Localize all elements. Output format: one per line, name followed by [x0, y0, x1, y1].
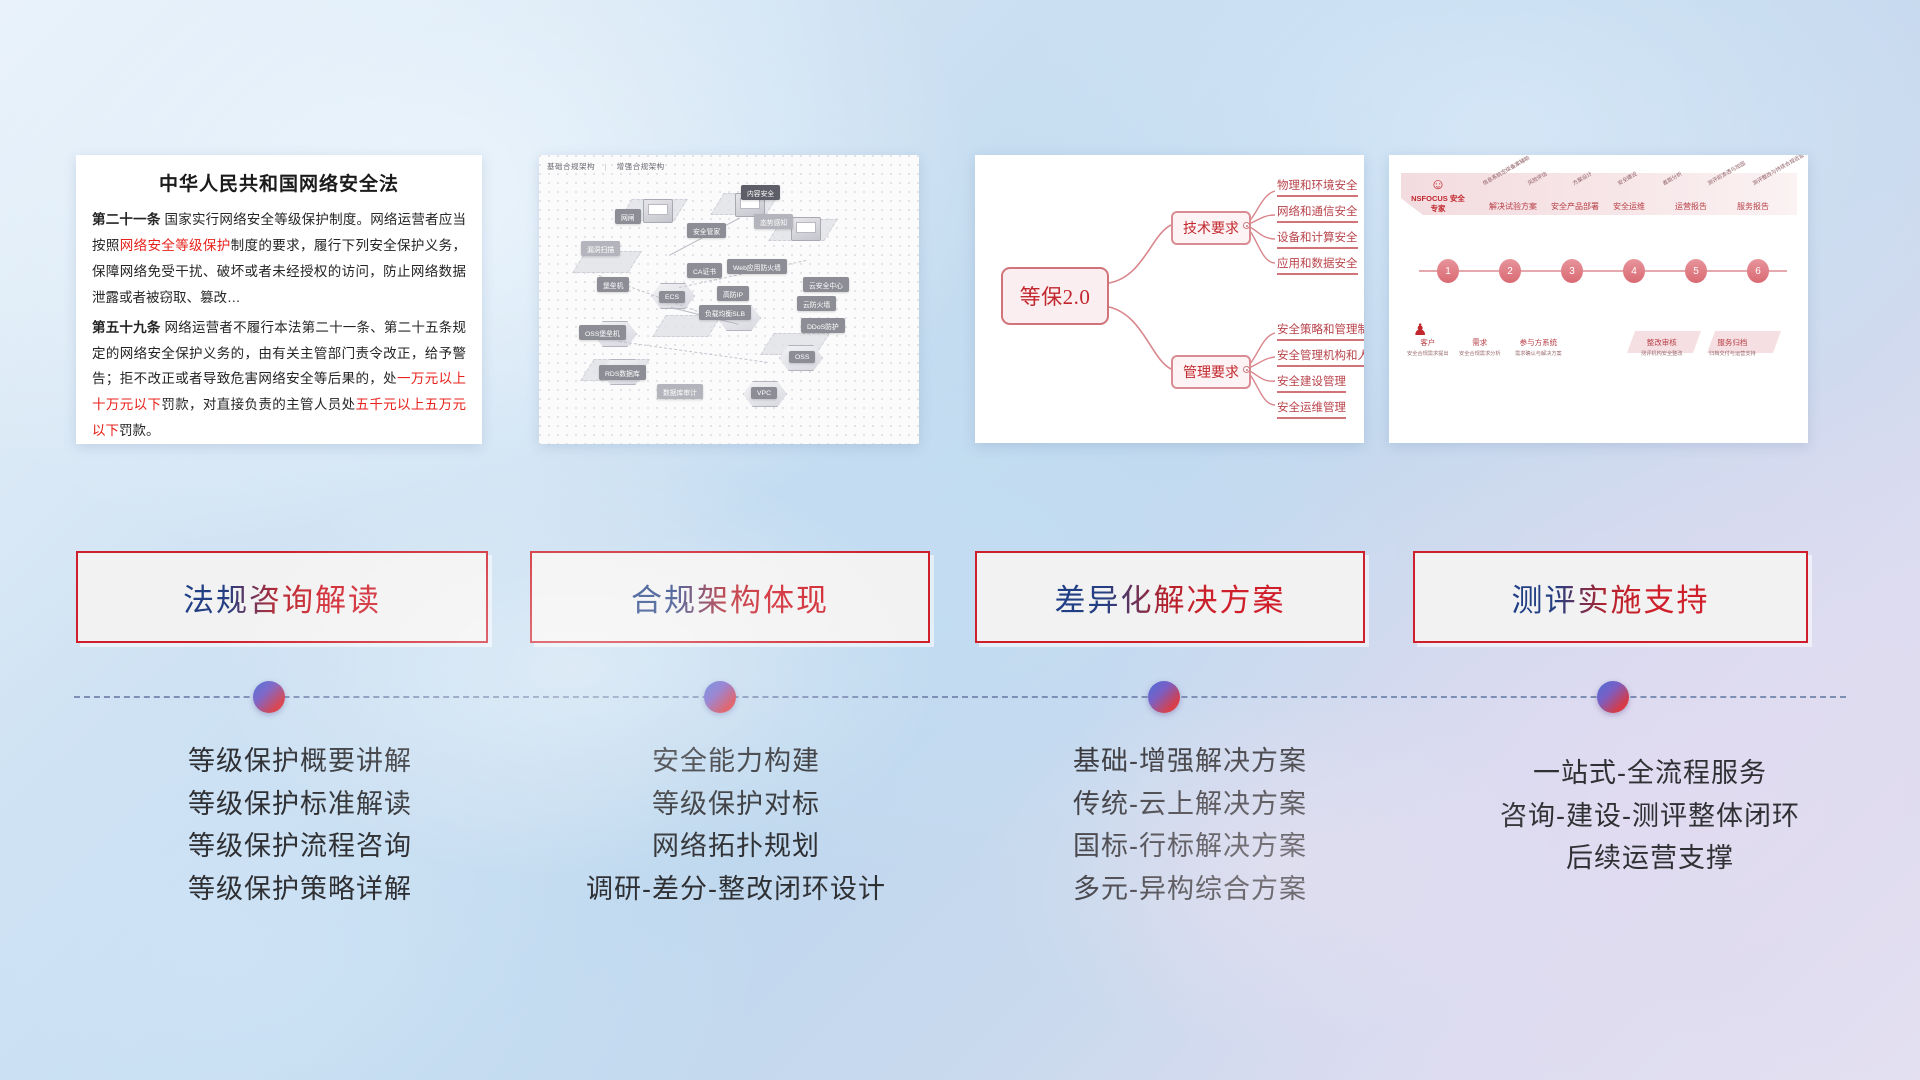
poster-canvas: 中华人民共和国网络安全法 第二十一条 国家实行网络安全等级保护制度。网络运营者应…	[0, 0, 1920, 1080]
nsfocus-service-label: 安全产品部署	[1551, 201, 1599, 212]
card-nsfocus-timeline[interactable]: ☺ NSFOCUS 安全专家 信息系统定级备案辅助风险评估方案设计安全建设差距分…	[1389, 155, 1808, 443]
nsfocus-logo: ☺ NSFOCUS 安全专家	[1411, 177, 1465, 214]
arch-header-right: 增强合规架构	[617, 162, 665, 171]
arch-component-chip: CA证书	[687, 263, 722, 278]
detail-column-1: 等级保护概要讲解等级保护标准解读等级保护流程咨询等级保护策略详解	[60, 740, 540, 911]
law-title: 中华人民共和国网络安全法	[92, 169, 466, 196]
mindmap-leaf: 应用和数据安全	[1277, 255, 1358, 277]
mindmap-branch-technical[interactable]: 技术要求	[1171, 211, 1251, 245]
nsfocus-block-subtitle: 测评机构安全整改	[1641, 350, 1683, 357]
mindmap-leaf-label: 物理和环境安全	[1277, 180, 1358, 192]
mindmap-leaf: 安全运维管理	[1277, 399, 1346, 421]
mindmap-leaf-label: 安全运维管理	[1277, 402, 1346, 414]
architecture-canvas: 基础合规架构 | 增强合规架构	[539, 155, 919, 444]
arch-component-chip: 网闸	[615, 209, 641, 224]
pill-label: 测评实施支持	[1512, 575, 1710, 620]
arch-component-chip: DDoS防护	[801, 318, 845, 333]
nsfocus-service-label: 安全运维	[1613, 201, 1645, 212]
nsfocus-block-title: 参与方系统	[1520, 338, 1558, 347]
timeline-node-1[interactable]	[253, 681, 285, 713]
mindmap-connector-dot	[1243, 222, 1250, 229]
law-text: 罚款，对直接负责的主管人员处	[161, 397, 355, 412]
mindmap-leaf: 安全管理机构和人员	[1277, 347, 1364, 369]
mindmap-leaf: 设备和计算安全	[1277, 229, 1358, 251]
arch-component-chip: 堡垒机	[597, 277, 629, 292]
detail-column-4: 一站式-全流程服务咨询-建设-测评整体闭环后续运营支撑	[1430, 740, 1870, 880]
nsfocus-block-title: 客户	[1420, 338, 1435, 347]
nsfocus-brand-line1: NSFOCUS	[1411, 194, 1448, 203]
detail-item: 一站式-全流程服务	[1430, 752, 1870, 795]
law-article-number: 第五十九条	[92, 320, 161, 335]
law-text: 罚款。	[119, 423, 160, 438]
arch-component-chip: 云防火墙	[797, 296, 836, 311]
mindmap-leaf-label: 安全策略和管理制度	[1277, 324, 1364, 336]
arch-component-chip: OSS	[789, 351, 815, 363]
detail-item: 安全能力构建	[516, 740, 956, 783]
law-article-number: 第二十一条	[92, 212, 161, 227]
nsfocus-bottom-block: 客户安全合规需求提出	[1407, 337, 1449, 357]
arch-component-chip: Web应用防火墙	[727, 259, 787, 274]
detail-item: 后续运营支撑	[1430, 837, 1870, 880]
pill-button-3[interactable]: 差异化解决方案	[975, 551, 1365, 643]
timeline-node-3[interactable]	[1148, 681, 1180, 713]
detail-item: 咨询-建设-测评整体闭环	[1430, 795, 1870, 838]
detail-item: 等级保护对标	[516, 783, 956, 826]
mindmap-canvas: 等保2.0 技术要求 管理要求 物理和环境安全 网络和通信安全 设备和计算安全 …	[975, 155, 1364, 443]
mindmap-leaf-label: 网络和通信安全	[1277, 206, 1358, 218]
arch-server-node	[643, 199, 673, 223]
law-paragraphs: 第二十一条 国家实行网络安全等级保护制度。网络运营者应当按照网络安全等级保护制度…	[92, 207, 466, 444]
nsfocus-block-subtitle: 需求确认与解决方案	[1515, 350, 1562, 357]
nsfocus-service-label: 解决试验方案	[1489, 201, 1537, 212]
arch-component-chip: 高防IP	[717, 286, 749, 301]
timeline-node-2[interactable]	[704, 681, 736, 713]
arch-component-chip: 负载均衡SLB	[699, 305, 751, 320]
nsfocus-service-label: 运营报告	[1675, 201, 1707, 212]
nsfocus-block-subtitle: 安全合规需求分析	[1459, 350, 1501, 357]
law-paragraph: 第二十一条 国家实行网络安全等级保护制度。网络运营者应当按照网络安全等级保护制度…	[92, 207, 466, 311]
arch-component-chip: 态势感知	[754, 214, 793, 229]
detail-item: 等级保护标准解读	[60, 783, 540, 826]
pill-label: 合规架构体现	[631, 575, 829, 620]
arch-component-chip: 安全管家	[687, 223, 726, 238]
nsfocus-step-marker[interactable]: 5	[1685, 259, 1707, 283]
nsfocus-step-marker[interactable]: 2	[1499, 259, 1521, 283]
architecture-header: 基础合规架构 | 增强合规架构	[547, 161, 665, 172]
nsfocus-block-title: 服务归档	[1717, 338, 1747, 347]
mindmap-leaf: 安全策略和管理制度	[1277, 321, 1364, 343]
pill-button-2[interactable]: 合规架构体现	[530, 551, 930, 643]
arch-component-chip: RDS数据库	[599, 365, 646, 380]
detail-item: 等级保护概要讲解	[60, 740, 540, 783]
arch-header-separator: |	[605, 162, 607, 171]
nsfocus-axis	[1419, 270, 1787, 272]
mindmap-root-node[interactable]: 等保2.0	[1001, 267, 1109, 325]
card-law-document[interactable]: 中华人民共和国网络安全法 第二十一条 国家实行网络安全等级保护制度。网络运营者应…	[76, 155, 482, 444]
detail-item: 国标-行标解决方案	[960, 825, 1420, 868]
nsfocus-bottom-block: 服务归档归档交付与运营支持	[1709, 337, 1756, 357]
mindmap-leaf-label: 安全管理机构和人员	[1277, 350, 1364, 362]
arch-component-chip: 数据库审计	[657, 384, 703, 399]
arch-server-node	[791, 217, 821, 241]
arch-component-chip: 云安全中心	[803, 277, 849, 292]
person-icon: ☺	[1411, 177, 1465, 192]
cards-row: 中华人民共和国网络安全法 第二十一条 国家实行网络安全等级保护制度。网络运营者应…	[0, 155, 1920, 445]
mindmap-leaf-label: 安全建设管理	[1277, 376, 1346, 388]
mindmap-branch-management[interactable]: 管理要求	[1171, 355, 1251, 389]
detail-item: 等级保护流程咨询	[60, 825, 540, 868]
nsfocus-service-label: 服务报告	[1737, 201, 1769, 212]
mindmap-leaf-label: 应用和数据安全	[1277, 258, 1358, 270]
detail-item: 多元-异构综合方案	[960, 868, 1420, 911]
nsfocus-block-subtitle: 归档交付与运营支持	[1709, 350, 1756, 357]
nsfocus-block-subtitle: 安全合规需求提出	[1407, 350, 1449, 357]
nsfocus-block-title: 整改审核	[1647, 338, 1677, 347]
nsfocus-block-title: 需求	[1472, 338, 1487, 347]
timeline-dashed-line	[74, 696, 1846, 698]
arch-component-chip: OSS堡垒机	[579, 325, 626, 340]
detail-item: 基础-增强解决方案	[960, 740, 1420, 783]
nsfocus-step-marker[interactable]: 4	[1623, 259, 1645, 283]
mindmap-leaf: 网络和通信安全	[1277, 203, 1358, 225]
law-body: 中华人民共和国网络安全法 第二十一条 国家实行网络安全等级保护制度。网络运营者应…	[76, 155, 482, 444]
nsfocus-bottom-block: 整改审核测评机构安全整改	[1641, 337, 1683, 357]
detail-item: 网络拓扑规划	[516, 825, 956, 868]
pill-label: 法规咨询解读	[183, 575, 381, 620]
pill-label: 差异化解决方案	[1055, 575, 1286, 620]
law-paragraph: 第五十九条 网络运营者不履行本法第二十一条、第二十五条规定的网络安全保护义务的，…	[92, 315, 466, 444]
detail-item: 调研-差分-整改闭环设计	[516, 868, 956, 911]
detail-item: 传统-云上解决方案	[960, 783, 1420, 826]
detail-item: 等级保护策略详解	[60, 868, 540, 911]
pill-button-4[interactable]: 测评实施支持	[1413, 551, 1808, 643]
mindmap-connector-dot	[1243, 366, 1250, 373]
detail-column-2: 安全能力构建等级保护对标网络拓扑规划调研-差分-整改闭环设计	[516, 740, 956, 911]
law-highlight-text: 网络安全等级保护	[120, 238, 231, 253]
nsfocus-bottom-block: 参与方系统需求确认与解决方案	[1515, 337, 1562, 357]
arch-header-left: 基础合规架构	[547, 162, 595, 171]
nsfocus-bottom-block: 需求安全合规需求分析	[1459, 337, 1501, 357]
arch-component-chip: 内容安全	[741, 185, 780, 200]
nsfocus-canvas: ☺ NSFOCUS 安全专家 信息系统定级备案辅助风险评估方案设计安全建设差距分…	[1389, 155, 1808, 443]
nsfocus-step-marker[interactable]: 6	[1747, 259, 1769, 283]
mindmap-leaf: 安全建设管理	[1277, 373, 1346, 395]
mindmap-leaf-label: 设备和计算安全	[1277, 232, 1358, 244]
detail-column-3: 基础-增强解决方案传统-云上解决方案国标-行标解决方案多元-异构综合方案	[960, 740, 1420, 911]
card-architecture-diagram[interactable]: 基础合规架构 | 增强合规架构	[539, 155, 919, 444]
arch-component-chip: VPC	[751, 387, 777, 399]
arch-component-chip: 漏洞扫描	[581, 241, 620, 256]
pill-row: 法规咨询解读 合规架构体现 差异化解决方案 测评实施支持	[0, 551, 1920, 647]
nsfocus-step-marker[interactable]: 1	[1437, 259, 1459, 283]
mindmap-leaf: 物理和环境安全	[1277, 177, 1358, 199]
card-mindmap[interactable]: 等保2.0 技术要求 管理要求 物理和环境安全 网络和通信安全 设备和计算安全 …	[975, 155, 1364, 443]
arch-component-chip: ECS	[659, 291, 685, 303]
timeline-node-4[interactable]	[1597, 681, 1629, 713]
nsfocus-step-marker[interactable]: 3	[1561, 259, 1583, 283]
pill-button-1[interactable]: 法规咨询解读	[76, 551, 488, 643]
